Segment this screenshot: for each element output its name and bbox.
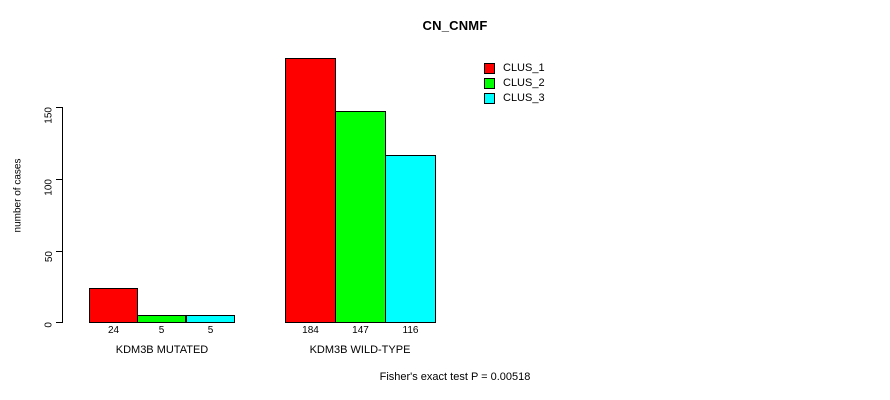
y-axis-tick-label-0-wrap: 0	[0, 317, 50, 327]
y-axis-tick-label-150: 150	[45, 107, 55, 124]
x-axis-group-label-wildtype: KDM3B WILD-TYPE	[260, 344, 460, 356]
legend-label-clus2: CLUS_2	[503, 78, 545, 89]
bar-value-group2-clus2: 147	[335, 325, 386, 336]
y-axis-tick-label-100-wrap: 100	[0, 174, 50, 184]
x-axis-group-label-mutated: KDM3B MUTATED	[62, 344, 262, 356]
bar-group2-clus2	[335, 111, 386, 323]
footer-note: Fisher's exact test P = 0.00518	[0, 371, 890, 383]
y-axis-tick-50	[56, 251, 62, 252]
bar-group1-clus2	[137, 315, 186, 323]
fisher-test-text: Fisher's exact test P = 0.00518	[380, 371, 531, 383]
chart-title-text: CN_CNMF	[423, 18, 488, 33]
y-axis-line	[62, 107, 63, 323]
y-axis-tick-0	[56, 322, 62, 323]
y-axis-tick-100	[56, 179, 62, 180]
legend-item-clus3: CLUS_3	[484, 91, 545, 106]
legend-label-clus1: CLUS_1	[503, 63, 545, 74]
bar-value-group1-clus2: 5	[137, 325, 186, 336]
bar-value-group2-clus3: 116	[385, 325, 436, 336]
bar-value-group1-clus1: 24	[89, 325, 138, 336]
legend-swatch-clus2	[484, 78, 495, 89]
y-axis-tick-label-50-wrap: 50	[0, 246, 50, 256]
legend-swatch-clus3	[484, 93, 495, 104]
y-axis-tick-label-100: 100	[45, 179, 55, 196]
y-axis-title: number of cases	[13, 126, 24, 266]
y-axis-tick-label-150-wrap: 150	[0, 102, 50, 112]
bar-value-group2-clus1: 184	[285, 325, 336, 336]
chart-canvas: CN_CNMF 150 100 50 0 number of cases 24 …	[0, 0, 890, 400]
legend-swatch-clus1	[484, 63, 495, 74]
bar-group2-clus1	[285, 58, 336, 323]
legend-item-clus1: CLUS_1	[484, 61, 545, 76]
y-axis-tick-label-50: 50	[45, 251, 55, 262]
legend-item-clus2: CLUS_2	[484, 76, 545, 91]
y-axis-tick-150	[56, 107, 62, 108]
legend: CLUS_1 CLUS_2 CLUS_3	[484, 61, 545, 106]
page-title: CN_CNMF	[0, 18, 890, 33]
bar-group1-clus3	[186, 315, 235, 323]
bar-value-group1-clus3: 5	[186, 325, 235, 336]
bar-group2-clus3	[385, 155, 436, 323]
legend-label-clus3: CLUS_3	[503, 93, 545, 104]
bar-group1-clus1	[89, 288, 138, 323]
y-axis-tick-label-0: 0	[45, 322, 55, 328]
